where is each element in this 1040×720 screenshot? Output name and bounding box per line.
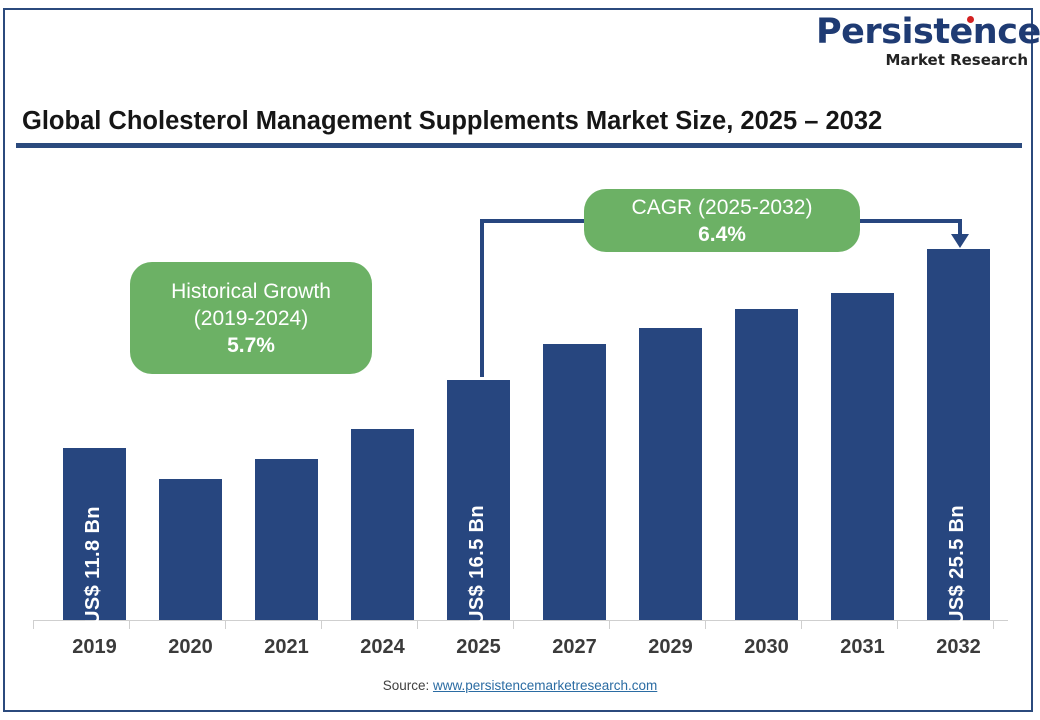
chart-page: Persistence Market Research Global Chole… (0, 0, 1040, 720)
source-line: Source: www.persistencemarketresearch.co… (0, 678, 1040, 693)
axis-tick (801, 620, 802, 629)
axis-tick (705, 620, 706, 629)
source-link[interactable]: www.persistencemarketresearch.com (433, 678, 657, 693)
bar-2020 (159, 479, 222, 620)
bar-2021 (255, 459, 318, 620)
x-axis-label-2029: 2029 (639, 636, 702, 659)
source-prefix: Source: (383, 678, 433, 693)
x-axis-label-2020: 2020 (159, 636, 222, 659)
bar-2027 (543, 344, 606, 620)
bar-2024 (351, 429, 414, 620)
x-axis-label-2019: 2019 (63, 636, 126, 659)
axis-tick (897, 620, 898, 629)
axis-tick (513, 620, 514, 629)
axis-tick (225, 620, 226, 629)
bar-2031 (831, 293, 894, 620)
x-axis-label-2027: 2027 (543, 636, 606, 659)
bar-value-label-2025: US$ 16.5 Bn (466, 505, 489, 625)
axis-tick (993, 620, 994, 629)
x-axis-line (33, 620, 1008, 621)
axis-tick (33, 620, 34, 629)
axis-tick (129, 620, 130, 629)
historical-growth-value: 5.7% (227, 332, 275, 359)
x-axis-label-2030: 2030 (735, 636, 798, 659)
axis-tick (417, 620, 418, 629)
cagr-value: 6.4% (698, 221, 746, 248)
cagr-connector-vertical-left (480, 219, 484, 377)
bar-2029 (639, 328, 702, 620)
x-axis-label-2021: 2021 (255, 636, 318, 659)
x-axis-label-2032: 2032 (927, 636, 990, 659)
x-axis-label-2031: 2031 (831, 636, 894, 659)
cagr-arrow-icon (951, 234, 969, 248)
bar-value-label-2032: US$ 25.5 Bn (946, 505, 969, 625)
axis-tick (609, 620, 610, 629)
historical-growth-line2: (2019-2024) (194, 305, 308, 332)
historical-growth-badge: Historical Growth (2019-2024) 5.7% (130, 262, 372, 374)
x-axis-label-2025: 2025 (447, 636, 510, 659)
cagr-label: CAGR (2025-2032) (632, 194, 813, 221)
bar-value-label-2019: US$ 11.8 Bn (82, 506, 105, 625)
x-axis-label-2024: 2024 (351, 636, 414, 659)
bar-2030 (735, 309, 798, 620)
historical-growth-line1: Historical Growth (171, 278, 331, 305)
bar-chart: US$ 11.8 BnUS$ 16.5 BnUS$ 25.5 Bn 201920… (0, 0, 1040, 720)
axis-tick (321, 620, 322, 629)
cagr-badge: CAGR (2025-2032) 6.4% (584, 189, 860, 252)
